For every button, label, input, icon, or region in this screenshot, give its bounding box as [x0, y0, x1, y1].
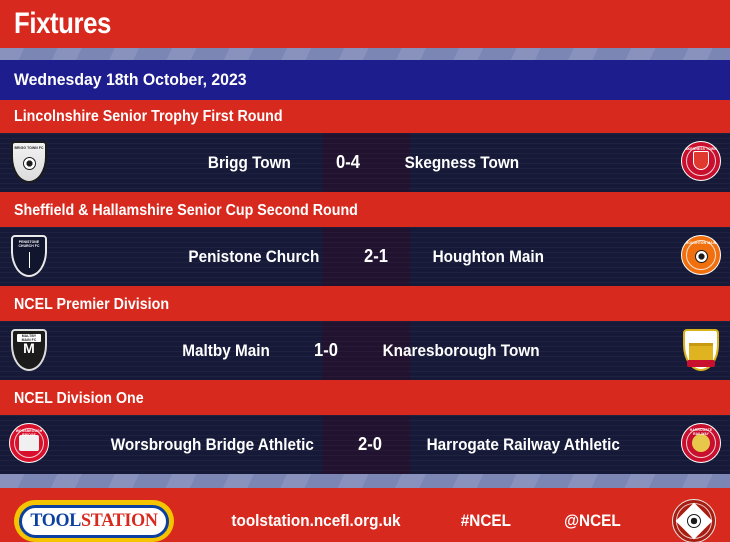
home-badge-slot: BRIGG TOWN FC [0, 133, 58, 192]
badge-label: WORSBROUGH BRIDGE [10, 429, 48, 438]
competition-header-sheffield: Sheffield & Hallamshire Senior Cup Secon… [0, 194, 730, 227]
badge-monogram: M [20, 341, 38, 355]
twitter-handle-ncel[interactable]: @NCEL [564, 511, 621, 531]
away-team-name: Skegness Town [392, 153, 644, 173]
fixture-date: Wednesday 18th October, 2023 [14, 70, 247, 90]
home-team-name: Maltby Main [80, 341, 282, 361]
harrogate-railway-badge: HARROGATE RAILWAY [680, 423, 722, 467]
badge-label: BRIGG TOWN FC [13, 146, 45, 150]
away-badge-slot: HOUGHTON MAIN [672, 227, 730, 286]
date-bar: Wednesday 18th October, 2023 [0, 60, 730, 100]
match-score: 1-0 [286, 340, 367, 361]
fixtures-graphic: Fixtures Wednesday 18th October, 2023 Li… [0, 0, 730, 542]
title-bar: Fixtures [0, 0, 730, 48]
badge-label: HARROGATE RAILWAY [682, 428, 720, 437]
competition-name: NCEL Division One [14, 390, 144, 408]
maltby-main-badge: MALTBY MAIN FC M [8, 329, 50, 373]
league-website-url[interactable]: toolstation.ncefl.org.uk [231, 511, 400, 531]
brigg-town-badge: BRIGG TOWN FC [8, 141, 50, 185]
watermark-band-top [0, 48, 730, 60]
penistone-church-badge: PENISTONE CHURCH FC [8, 235, 50, 279]
football-icon [695, 250, 708, 263]
match-score: 2-0 [330, 434, 411, 455]
competition-header-ncel-division-one: NCEL Division One [0, 382, 730, 415]
ncel-league-badge [672, 499, 716, 542]
skegness-town-badge: SKEGNESS TOWN [680, 141, 722, 185]
away-team-name: Houghton Main [420, 247, 647, 267]
page-title: Fixtures [14, 7, 111, 41]
match-row[interactable]: WORSBROUGH BRIDGE Worsbrough Bridge Athl… [0, 415, 730, 474]
away-badge-slot: SKEGNESS TOWN [672, 133, 730, 192]
worsbrough-bridge-badge: WORSBROUGH BRIDGE [8, 423, 50, 467]
football-icon [23, 157, 36, 170]
footer-bar: TOOLSTATION toolstation.ncefl.org.uk #NC… [0, 488, 730, 542]
badge-label: PENISTONE CHURCH FC [13, 240, 45, 249]
houghton-main-badge: HOUGHTON MAIN [680, 235, 722, 279]
match-row[interactable]: MALTBY MAIN FC M Maltby Main 1-0 Knaresb… [0, 321, 730, 380]
away-team-name: Harrogate Railway Athletic [414, 435, 646, 455]
home-badge-slot: MALTBY MAIN FC M [0, 321, 58, 380]
match-score: 0-4 [307, 152, 388, 173]
hashtag-ncel[interactable]: #NCEL [460, 511, 510, 531]
football-icon [687, 514, 701, 528]
match-row[interactable]: BRIGG TOWN FC Brigg Town 0-4 Skegness To… [0, 133, 730, 192]
badge-label: HOUGHTON MAIN [682, 241, 720, 245]
badge-banner [687, 360, 715, 367]
competition-name: NCEL Premier Division [14, 296, 169, 314]
home-badge-slot: WORSBROUGH BRIDGE [0, 415, 58, 474]
away-badge-slot [672, 321, 730, 380]
competition-name: Sheffield & Hallamshire Senior Cup Secon… [14, 202, 358, 220]
away-team-name: Knaresborough Town [370, 341, 641, 361]
competition-header-lincolnshire: Lincolnshire Senior Trophy First Round [0, 100, 730, 133]
match-row[interactable]: PENISTONE CHURCH FC Penistone Church 2-1… [0, 227, 730, 286]
away-badge-slot: HARROGATE RAILWAY [672, 415, 730, 474]
toolstation-logo[interactable]: TOOLSTATION [14, 500, 174, 542]
castle-icon [689, 343, 713, 361]
match-score: 2-1 [335, 246, 416, 267]
competition-name: Lincolnshire Senior Trophy First Round [14, 108, 283, 126]
competition-header-ncel-premier: NCEL Premier Division [0, 288, 730, 321]
toolstation-logo-inner: TOOLSTATION [19, 505, 169, 538]
home-team-name: Penistone Church [85, 247, 332, 267]
watermark-band-bottom [0, 474, 730, 488]
badge-shield [693, 151, 709, 170]
toolstation-word-tool: TOOL [30, 510, 81, 531]
home-team-name: Brigg Town [83, 153, 304, 173]
lion-emblem [692, 434, 710, 452]
knaresborough-town-badge [680, 329, 722, 373]
home-team-name: Worsbrough Bridge Athletic [85, 435, 327, 455]
badge-divider [29, 252, 30, 268]
badge-label: SKEGNESS TOWN [682, 147, 720, 151]
toolstation-word-station: STATION [81, 510, 158, 531]
toolstation-wordmark: TOOLSTATION [30, 510, 157, 532]
home-badge-slot: PENISTONE CHURCH FC [0, 227, 58, 286]
